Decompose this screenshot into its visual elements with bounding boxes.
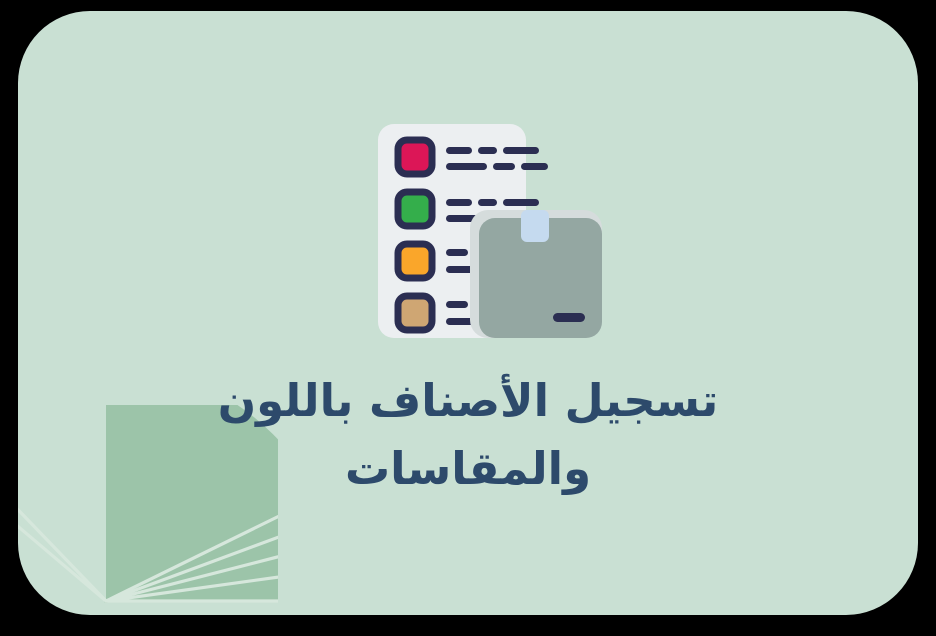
swatch-tan xyxy=(398,296,432,330)
swatch-crimson xyxy=(398,140,432,174)
swatch-green xyxy=(398,192,432,226)
package-box-tab xyxy=(521,210,549,242)
screenshot-stage: تسجيل الأصناف باللون والمقاسات xyxy=(0,0,936,636)
page-title: تسجيل الأصناف باللون والمقاسات xyxy=(18,367,918,504)
color-size-catalog-illustration xyxy=(360,106,612,354)
swatch-orange xyxy=(398,244,432,278)
feature-card[interactable]: تسجيل الأصناف باللون والمقاسات xyxy=(18,11,918,615)
package-box-label-dash xyxy=(553,313,585,322)
